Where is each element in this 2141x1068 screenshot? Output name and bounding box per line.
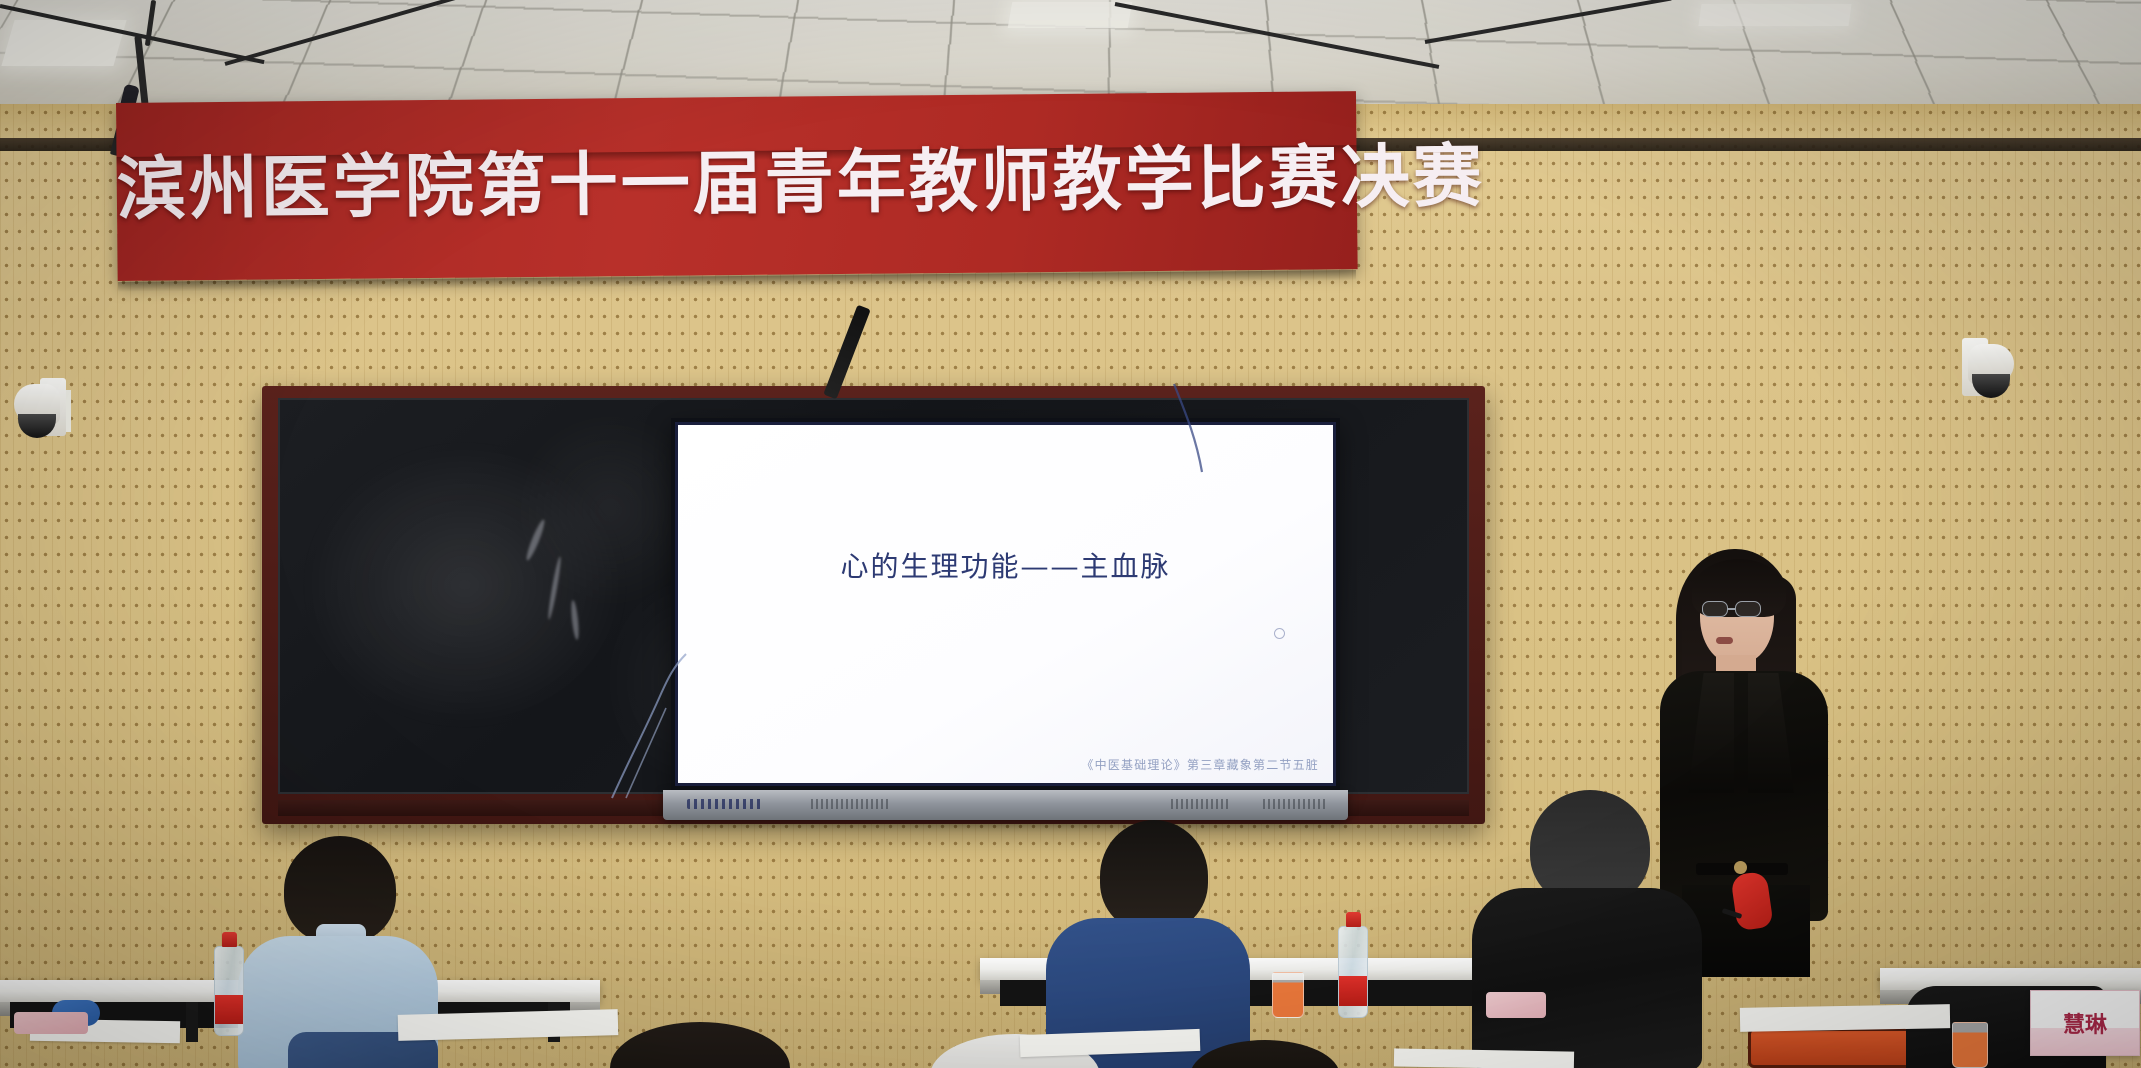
- name-placard: 慧琳: [2030, 990, 2140, 1056]
- smartboard-power-cable: [66, 390, 71, 432]
- slide-ink-curve: [1168, 380, 1268, 480]
- orange-drink-cup: [1952, 1022, 1988, 1068]
- audience-head: [610, 1022, 790, 1068]
- slide-footer-source: 《中医基础理论》第三章藏象第二节五脏: [678, 756, 1319, 773]
- bottle-label: [215, 995, 243, 1025]
- ceiling-light: [1698, 4, 1851, 26]
- dome-security-camera-right: [1962, 338, 2020, 400]
- audience-member-dark-coat: [1472, 790, 1702, 1068]
- dome-security-camera-left: [8, 378, 66, 440]
- slide-ink-scribble: [600, 648, 730, 808]
- bottle-cap: [1346, 912, 1361, 927]
- bottle-cap: [222, 932, 237, 947]
- water-bottle: [1338, 912, 1368, 1018]
- slide-title: 心的生理功能——主血脉: [678, 545, 1333, 585]
- water-bottle: [214, 932, 244, 1036]
- smartboard-vent: [1171, 799, 1229, 809]
- audience-foreground-head-right: [1190, 1040, 1340, 1068]
- pink-folder: [1486, 992, 1546, 1018]
- bottle-label: [1339, 976, 1367, 1007]
- slide-bullet-dot-icon: [1274, 628, 1285, 639]
- presenter-belt-buckle: [1734, 861, 1747, 874]
- presenter-mouth: [1716, 637, 1733, 644]
- audience-foreground-head-left: [610, 1022, 790, 1068]
- classroom-photo-scene: 滨州医学院第十一届青年教师教学比赛决赛 心的生理功能——主血脉 《: [0, 0, 2141, 1068]
- smartboard-vent: [811, 799, 889, 809]
- audience-head: [1100, 820, 1208, 932]
- audience-torso: [1472, 888, 1702, 1068]
- bottle-body: [214, 946, 244, 1036]
- score-sheet: [1740, 1004, 1950, 1032]
- orange-drink-cup: [1272, 972, 1304, 1018]
- smartboard-control-bar[interactable]: [663, 790, 1348, 820]
- banner-title-text: 滨州医学院第十一届青年教师教学比赛决赛: [116, 141, 1357, 227]
- bottle-body: [1338, 926, 1368, 1018]
- score-sheet: [1394, 1048, 1574, 1068]
- glasses-icon: [1702, 601, 1772, 617]
- desk-leg: [186, 1002, 198, 1042]
- event-banner: 滨州医学院第十一届青年教师教学比赛决赛: [116, 91, 1358, 281]
- smartboard-vent: [1263, 799, 1325, 809]
- placard-name-text: 慧琳: [2063, 1007, 2107, 1055]
- pink-folder: [14, 1012, 88, 1034]
- audience-head: [1190, 1040, 1340, 1068]
